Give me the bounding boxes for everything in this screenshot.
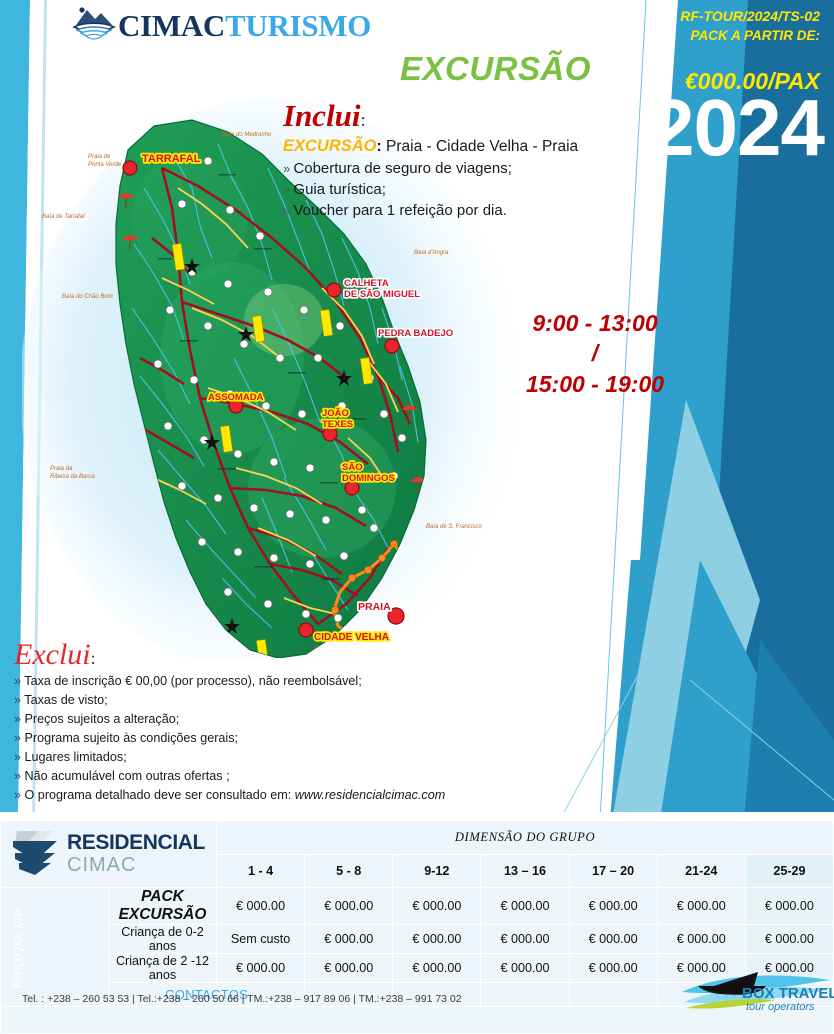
- bullet-icon: »: [283, 203, 289, 218]
- phone-numbers: Tel. : +238 – 260 53 53 | Tel.:+238 – 26…: [22, 993, 462, 1005]
- bullet-icon: »: [283, 161, 289, 176]
- exclui-section: Exclui: » Taxa de inscrição € 00,00 (por…: [14, 640, 614, 802]
- residencial-logo-primary: RESIDENCIAL: [67, 832, 205, 854]
- bullet-icon: »: [14, 788, 21, 802]
- price-cell: € 000.00: [305, 925, 393, 954]
- box-travel-logo: BOX TRAVEL tour operators: [680, 962, 834, 1014]
- exclui-heading-text: Exclui: [14, 638, 91, 671]
- row-label: Criança de 2 -12 anos: [109, 954, 217, 983]
- price-cell: € 000.00: [217, 888, 305, 925]
- svg-text:DE SÃO MIGUEL: DE SÃO MIGUEL: [344, 289, 420, 300]
- logo-primary-text: CIMAC: [118, 8, 225, 43]
- group-column-header: 5 - 8: [305, 854, 393, 888]
- cimac-turismo-logo: CIMACTURISMO: [72, 2, 371, 48]
- schedule-block: 9:00 - 13:00 / 15:00 - 19:00: [495, 308, 695, 399]
- page-title: EXCURSÃO: [400, 50, 591, 88]
- bullet-icon: »: [14, 769, 21, 783]
- price-cell: € 000.00: [569, 954, 657, 983]
- price-cell: € 000.00: [745, 888, 833, 925]
- exclui-item-label: Programa sujeito às condições gerais;: [25, 731, 239, 745]
- inclui-item-label: Cobertura de seguro de viagens;: [293, 160, 511, 177]
- exclui-item-label: Preços sujeitos a alteração;: [25, 712, 180, 726]
- schedule-afternoon: 15:00 - 19:00: [495, 369, 695, 399]
- table-row-header-title: RESIDENCIAL CIMAC DIMENSÃO DO GRUPO: [1, 821, 834, 855]
- row-label: Criança de 0-2 anos: [109, 925, 217, 954]
- price-cell: € 000.00: [481, 888, 569, 925]
- svg-text:Baía de S. Francisco: Baía de S. Francisco: [426, 524, 482, 530]
- svg-text:TARRAFAL: TARRAFAL: [142, 153, 201, 165]
- exclui-item-label: Não acumulável com outras ofertas ;: [25, 769, 230, 783]
- box-travel-secondary-text: tour operators: [746, 1001, 815, 1013]
- footer-spacer-cell: [481, 983, 569, 1007]
- exclui-item-label: O programa detalhado deve ser consultado…: [25, 788, 292, 802]
- table-row: Criança de 0-2 anos Sem custo € 000.00 €…: [1, 925, 834, 954]
- svg-text:TEXES: TEXES: [322, 419, 353, 430]
- preco-por-pax-label: Preço por pax: [1, 888, 109, 1007]
- price-cell: € 000.00: [393, 954, 481, 983]
- svg-text:PEDRA BADEJO: PEDRA BADEJO: [378, 328, 453, 339]
- price-cell: € 000.00: [481, 954, 569, 983]
- price-cell: € 000.00: [657, 888, 745, 925]
- group-column-header: 17 – 20: [569, 854, 657, 888]
- svg-text:CALHETA: CALHETA: [344, 278, 389, 289]
- schedule-morning: 9:00 - 13:00: [495, 308, 695, 338]
- pack-from-label: PACK A PARTIR DE:: [690, 28, 820, 43]
- group-column-header: 13 – 16: [481, 854, 569, 888]
- row-label: PACK EXCURSÃO: [109, 888, 217, 925]
- dimension-group-header: DIMENSÃO DO GRUPO: [217, 821, 834, 855]
- residencial-logo-secondary: CIMAC: [67, 855, 205, 876]
- inclui-section: Inclui: EXCURSÃO: Praia - Cidade Velha -…: [283, 100, 643, 219]
- inclui-heading-colon: :: [361, 110, 366, 131]
- svg-text:Baía de Tarrafal: Baía de Tarrafal: [42, 214, 85, 220]
- svg-text:Baía d'Angra: Baía d'Angra: [414, 250, 449, 256]
- inclui-route-label: EXCURSÃO: [283, 137, 377, 155]
- group-column-header: 1 - 4: [217, 854, 305, 888]
- price-cell: € 000.00: [305, 954, 393, 983]
- exclui-heading-colon: :: [91, 648, 96, 668]
- svg-text:JOÃO: JOÃO: [322, 408, 349, 419]
- residencial-cimac-logo: RESIDENCIAL CIMAC: [1, 821, 217, 888]
- inclui-item-label: Voucher para 1 refeição por dia.: [293, 202, 506, 219]
- mountain-wave-icon: [72, 5, 116, 45]
- inclui-route-colon: :: [377, 138, 382, 155]
- exclui-heading: Exclui:: [14, 640, 614, 670]
- group-column-header: 9-12: [393, 854, 481, 888]
- year-label: 2024: [650, 88, 824, 168]
- exclui-item-label: Lugares limitados;: [25, 750, 127, 764]
- svg-text:Ponta Verde: Ponta Verde: [88, 162, 122, 168]
- exclui-item: » Programa sujeito às condições gerais;: [14, 731, 614, 745]
- exclui-item: » Lugares limitados;: [14, 750, 614, 764]
- exclui-item: » Taxa de inscrição € 00,00 (por process…: [14, 674, 614, 688]
- box-travel-primary-text: BOX TRAVEL: [742, 985, 834, 1002]
- price-cell: € 000.00: [657, 925, 745, 954]
- logo-secondary-text: TURISMO: [225, 8, 371, 43]
- inclui-route: EXCURSÃO: Praia - Cidade Velha - Praia: [283, 137, 643, 156]
- inclui-route-value: Praia - Cidade Velha - Praia: [386, 138, 578, 155]
- inclui-heading-text: Inclui: [283, 98, 361, 133]
- price-cell: Sem custo: [217, 925, 305, 954]
- price-cell: € 000.00: [745, 925, 833, 954]
- svg-text:PRAIA: PRAIA: [358, 601, 391, 613]
- exclui-item: » Não acumulável com outras ofertas ;: [14, 769, 614, 783]
- price-cell: € 000.00: [569, 888, 657, 925]
- bullet-icon: »: [14, 674, 21, 688]
- reference-code: RF-TOUR/2024/TS-02: [680, 8, 820, 24]
- schedule-separator: /: [495, 338, 695, 368]
- preco-por-pax-text: Preço por pax: [10, 907, 25, 988]
- table-row: Preço por pax PACK EXCURSÃO € 000.00 € 0…: [1, 888, 834, 925]
- inclui-item: » Cobertura de seguro de viagens;: [283, 160, 643, 177]
- svg-text:Ribeira da Barca: Ribeira da Barca: [50, 474, 95, 480]
- svg-text:Praia da: Praia da: [50, 466, 73, 472]
- exclui-item: » Taxas de visto;: [14, 693, 614, 707]
- exclui-item-website: » O programa detalhado deve ser consulta…: [14, 788, 614, 802]
- bullet-icon: »: [283, 182, 289, 197]
- price-cell: € 000.00: [305, 888, 393, 925]
- footer-spacer-cell: [569, 983, 657, 1007]
- website-url[interactable]: www.residencialcimac.com: [295, 788, 445, 802]
- group-column-header: 21-24: [657, 854, 745, 888]
- exclui-item-label: Taxa de inscrição € 00,00 (por processo)…: [24, 674, 361, 688]
- price-cell: € 000.00: [393, 925, 481, 954]
- bullet-icon: »: [14, 731, 21, 745]
- bullet-icon: »: [14, 750, 21, 764]
- price-cell: € 000.00: [481, 925, 569, 954]
- inclui-item: » Guia turística;: [283, 181, 643, 198]
- chevron-stack-icon: [9, 827, 61, 882]
- inclui-item-label: Guia turística;: [293, 181, 386, 198]
- price-cell: € 000.00: [569, 925, 657, 954]
- svg-text:Praia de: Praia de: [88, 154, 111, 160]
- inclui-heading: Inclui:: [283, 100, 643, 131]
- svg-text:Baía do Chão Bom: Baía do Chão Bom: [62, 294, 113, 300]
- exclui-item: » Preços sujeitos a alteração;: [14, 712, 614, 726]
- svg-text:DOMINGOS: DOMINGOS: [342, 473, 395, 484]
- bullet-icon: »: [14, 712, 21, 726]
- group-column-header: 25-29: [745, 854, 833, 888]
- price-cell: € 000.00: [217, 954, 305, 983]
- svg-text:ASSOMADA: ASSOMADA: [208, 392, 264, 403]
- svg-text:SÃO: SÃO: [342, 462, 363, 473]
- price-cell: € 000.00: [393, 888, 481, 925]
- exclui-item-label: Taxas de visto;: [24, 693, 107, 707]
- svg-text:Baía do Medronho: Baía do Medronho: [222, 132, 272, 138]
- bullet-icon: »: [14, 693, 21, 707]
- inclui-item: » Voucher para 1 refeição por dia.: [283, 202, 643, 219]
